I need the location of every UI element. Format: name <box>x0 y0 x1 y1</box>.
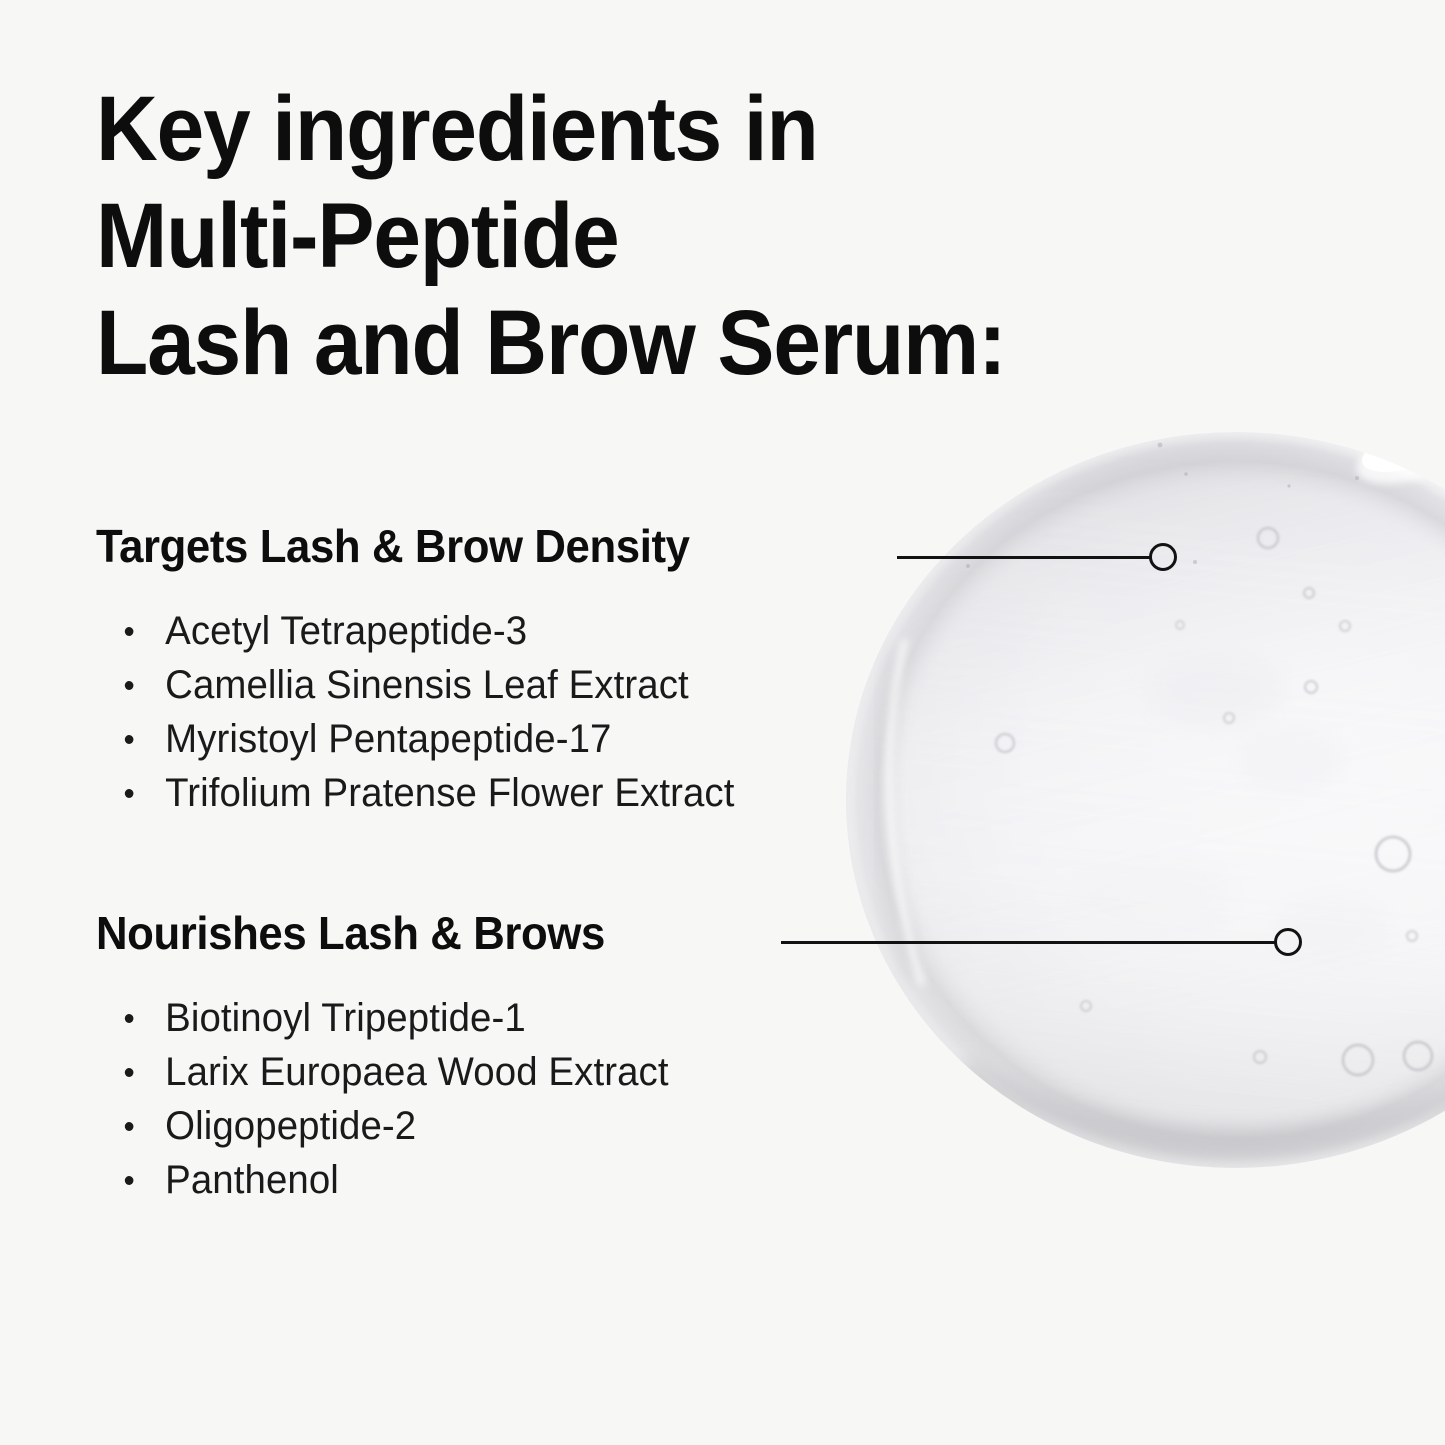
ingredient-label: Camellia Sinensis Leaf Extract <box>165 663 689 707</box>
list-item: Acetyl Tetrapeptide-3 <box>96 604 883 658</box>
section-heading: Targets Lash & Brow Density <box>96 518 875 574</box>
list-item: Camellia Sinensis Leaf Extract <box>96 658 883 712</box>
callout-connector-nourishes-lash-brows <box>781 928 1302 956</box>
bullet-dot-icon <box>125 681 134 690</box>
list-item: Trifolium Pratense Flower Extract <box>96 766 883 820</box>
page-title: Key ingredients in Multi-Peptide Lash an… <box>96 76 1035 397</box>
connector-endpoint-circle-icon <box>1274 928 1302 956</box>
ingredient-label: Trifolium Pratense Flower Extract <box>165 771 734 815</box>
ingredient-list: Acetyl Tetrapeptide-3 Camellia Sinensis … <box>96 604 916 820</box>
callout-connector-targets-lash-brow-density <box>897 543 1177 571</box>
bullet-dot-icon <box>125 789 134 798</box>
bullet-dot-icon <box>125 1122 134 1131</box>
list-item: Biotinoyl Tripeptide-1 <box>96 991 883 1045</box>
list-item: Oligopeptide-2 <box>96 1099 883 1153</box>
ingredient-list: Biotinoyl Tripeptide-1 Larix Europaea Wo… <box>96 991 916 1207</box>
ingredient-label: Larix Europaea Wood Extract <box>165 1050 668 1094</box>
section-heading: Nourishes Lash & Brows <box>96 905 875 961</box>
connector-line <box>781 941 1276 944</box>
connector-endpoint-circle-icon <box>1149 543 1177 571</box>
ingredient-label: Acetyl Tetrapeptide-3 <box>165 609 527 653</box>
section-targets-lash-brow-density: Targets Lash & Brow Density Acetyl Tetra… <box>96 518 916 820</box>
bullet-dot-icon <box>125 1176 134 1185</box>
ingredient-label: Biotinoyl Tripeptide-1 <box>165 996 526 1040</box>
list-item: Myristoyl Pentapeptide-17 <box>96 712 883 766</box>
list-item: Larix Europaea Wood Extract <box>96 1045 883 1099</box>
bullet-dot-icon <box>125 1014 134 1023</box>
ingredients-infographic: Key ingredients in Multi-Peptide Lash an… <box>0 0 1445 1445</box>
connector-line <box>897 556 1151 559</box>
list-item: Panthenol <box>96 1153 883 1207</box>
ingredient-label: Panthenol <box>165 1158 339 1202</box>
ingredient-label: Myristoyl Pentapeptide-17 <box>165 717 611 761</box>
ingredient-label: Oligopeptide-2 <box>165 1104 416 1148</box>
bullet-dot-icon <box>125 627 134 636</box>
bullet-dot-icon <box>125 1068 134 1077</box>
bullet-dot-icon <box>125 735 134 744</box>
